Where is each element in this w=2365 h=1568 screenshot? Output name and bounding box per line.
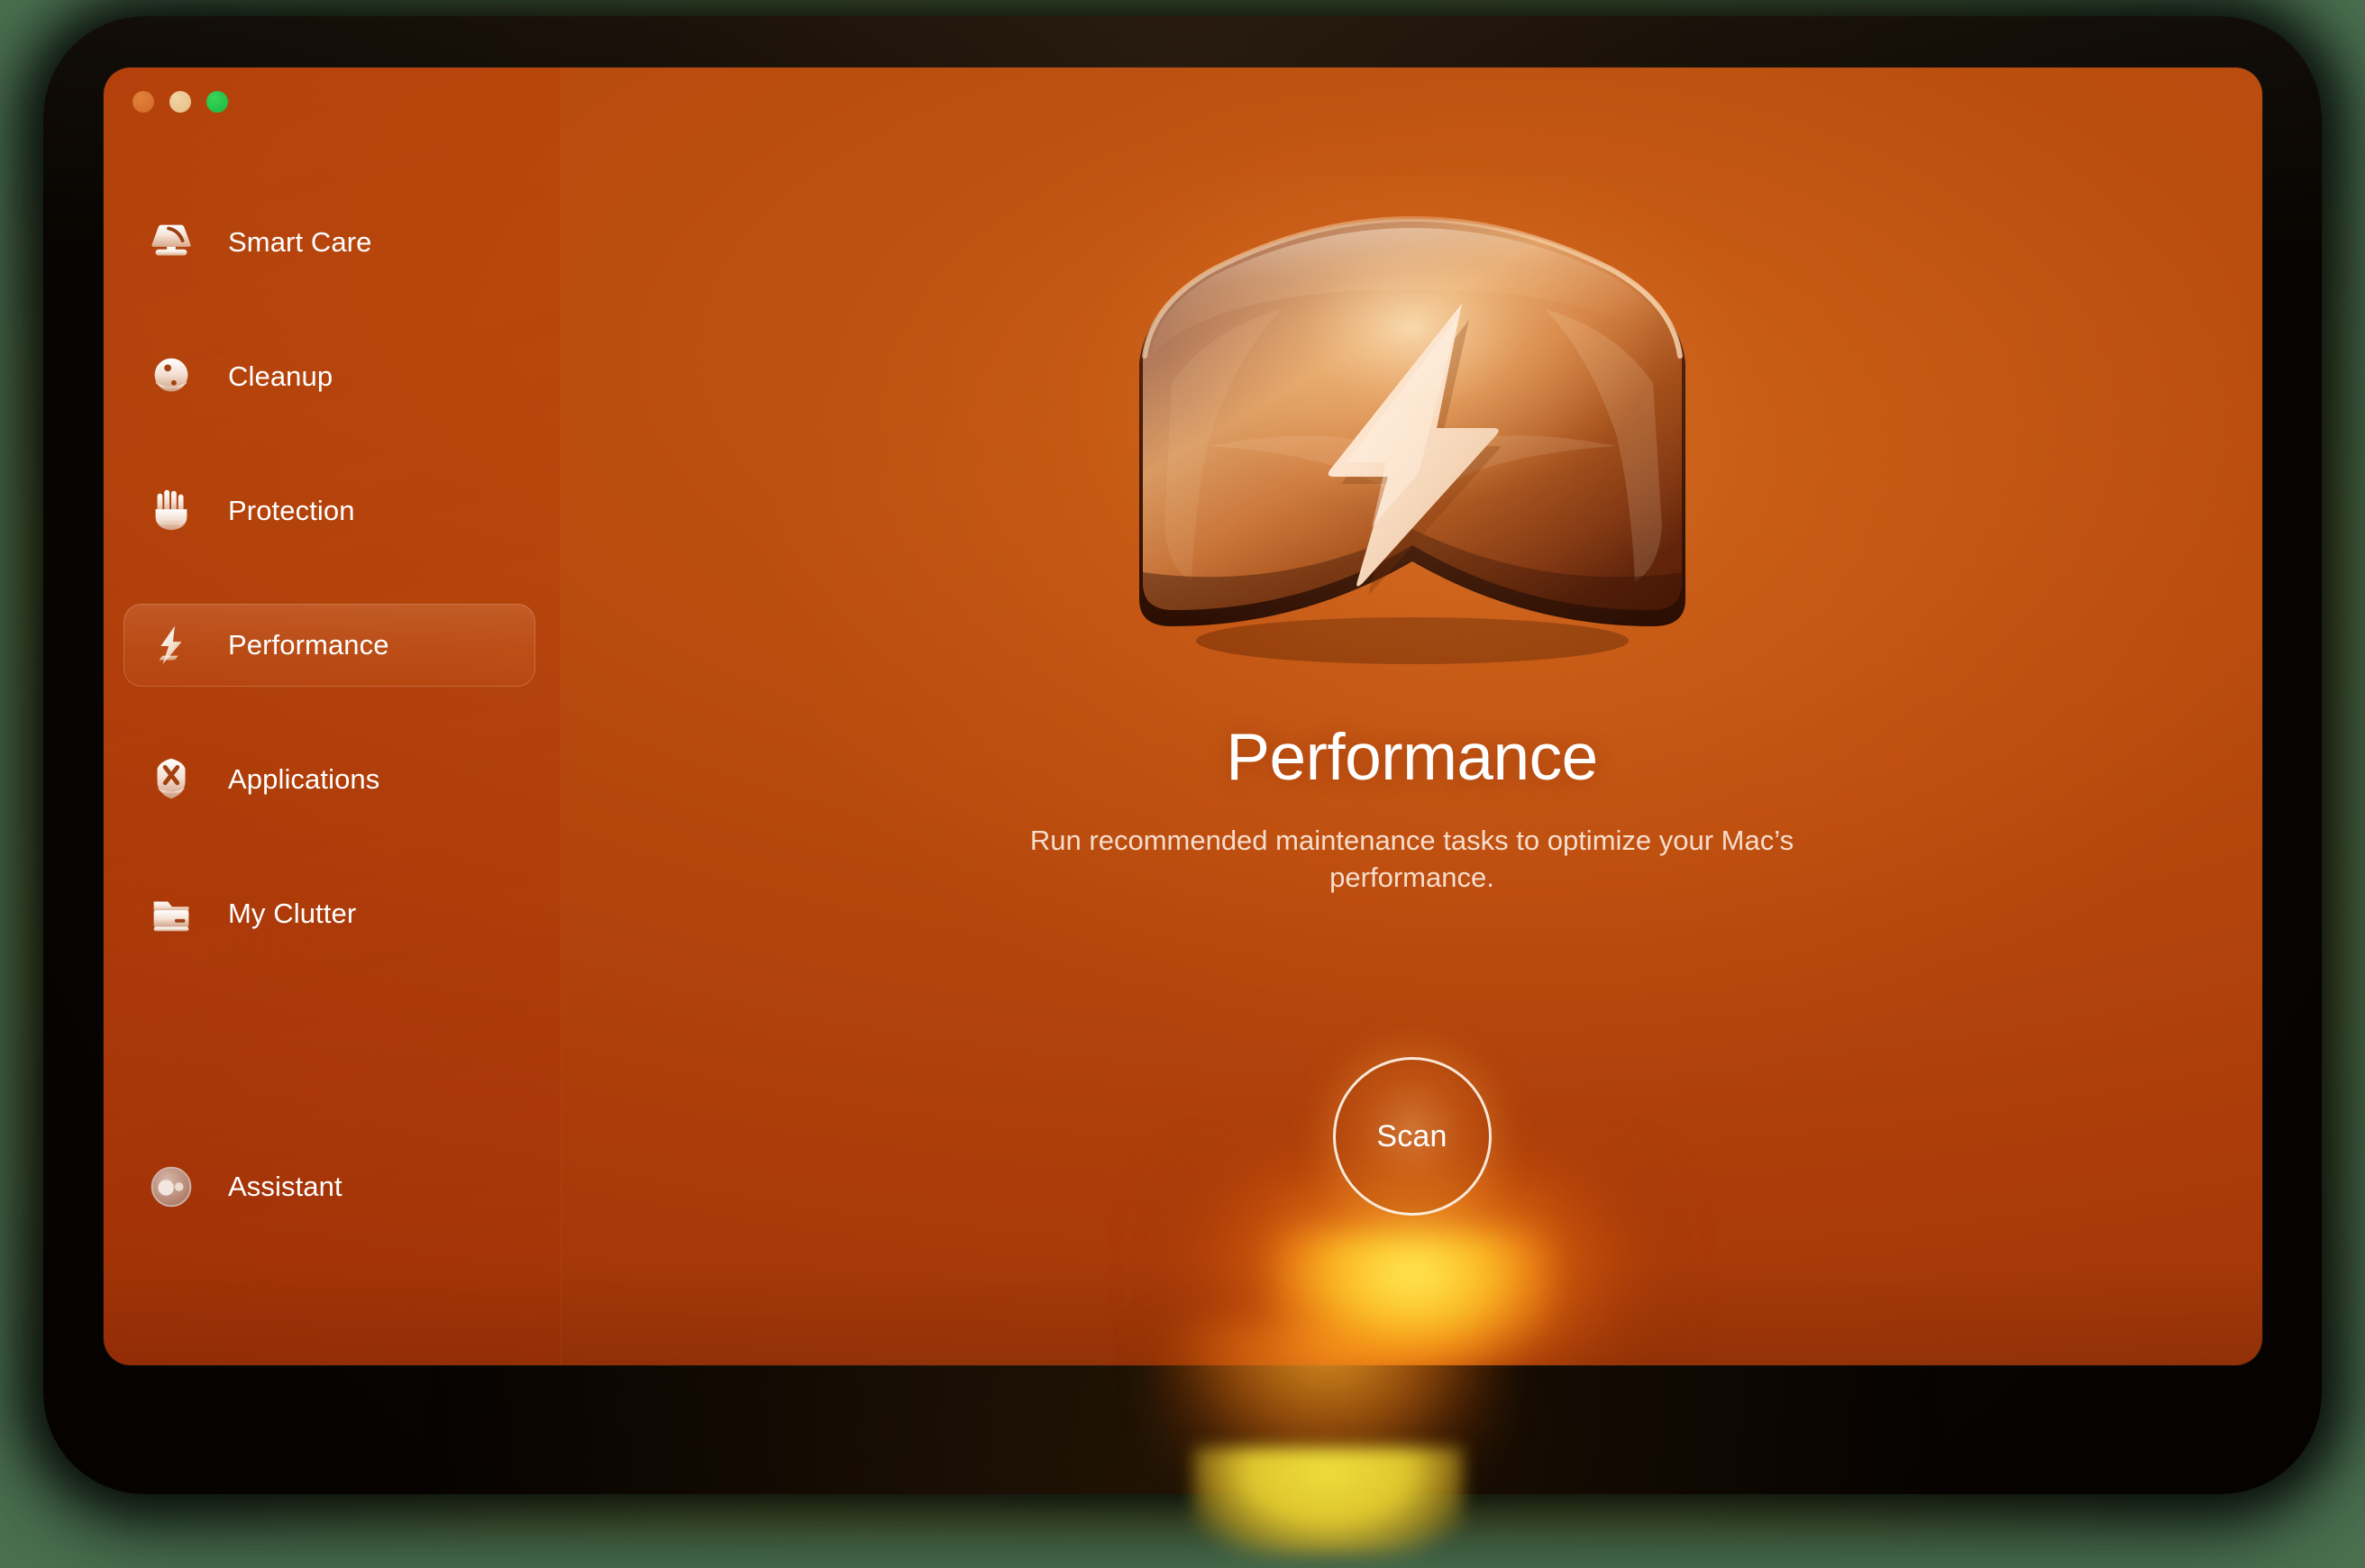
close-button-icon[interactable] (132, 91, 154, 113)
sidebar-item-label: Cleanup (228, 360, 333, 393)
maximize-button-icon[interactable] (206, 91, 228, 113)
lightning-bolt-icon (143, 617, 199, 673)
sphere-bubble-icon (143, 349, 199, 405)
sidebar-bottom-section: Assistant (104, 1145, 561, 1228)
sidebar-item-assistant[interactable]: Assistant (123, 1145, 535, 1228)
sidebar-item-label: My Clutter (228, 898, 356, 930)
sidebar-item-my-clutter[interactable]: My Clutter (123, 872, 535, 955)
folder-icon (143, 886, 199, 942)
scan-button-label: Scan (1376, 1119, 1447, 1154)
scan-glow-core (1273, 1234, 1552, 1365)
page-title: Performance (1226, 720, 1597, 795)
performance-chevron-bolt-icon (1101, 203, 1723, 671)
scan-button[interactable]: Scan (1333, 1057, 1492, 1216)
assistant-orb-icon (143, 1159, 199, 1215)
sidebar-item-performance[interactable]: Performance (123, 604, 535, 687)
main-content: Performance Run recommended maintenance … (562, 68, 2262, 1365)
shield-apps-icon (143, 752, 199, 807)
sidebar-item-label: Smart Care (228, 226, 371, 259)
minimize-button-icon[interactable] (169, 91, 191, 113)
sidebar-item-protection[interactable]: Protection (123, 469, 535, 552)
window-controls (132, 91, 228, 113)
sidebar: Smart Care (104, 68, 562, 1365)
hand-shield-icon (143, 483, 199, 539)
scan-area: Scan (1133, 1057, 1692, 1365)
sidebar-item-smart-care[interactable]: Smart Care (123, 201, 535, 284)
sidebar-item-applications[interactable]: Applications (123, 738, 535, 821)
sidebar-item-cleanup[interactable]: Cleanup (123, 335, 535, 418)
sidebar-item-label: Applications (228, 763, 379, 796)
sidebar-item-label: Performance (228, 629, 389, 661)
app-window: Smart Care (104, 68, 2262, 1365)
monitor-sweep-icon (143, 214, 199, 270)
page-subtitle: Run recommended maintenance tasks to opt… (1007, 822, 1818, 896)
sidebar-nav-list: Smart Care (104, 201, 561, 955)
sidebar-item-label: Protection (228, 495, 355, 527)
sidebar-item-label: Assistant (228, 1171, 342, 1203)
